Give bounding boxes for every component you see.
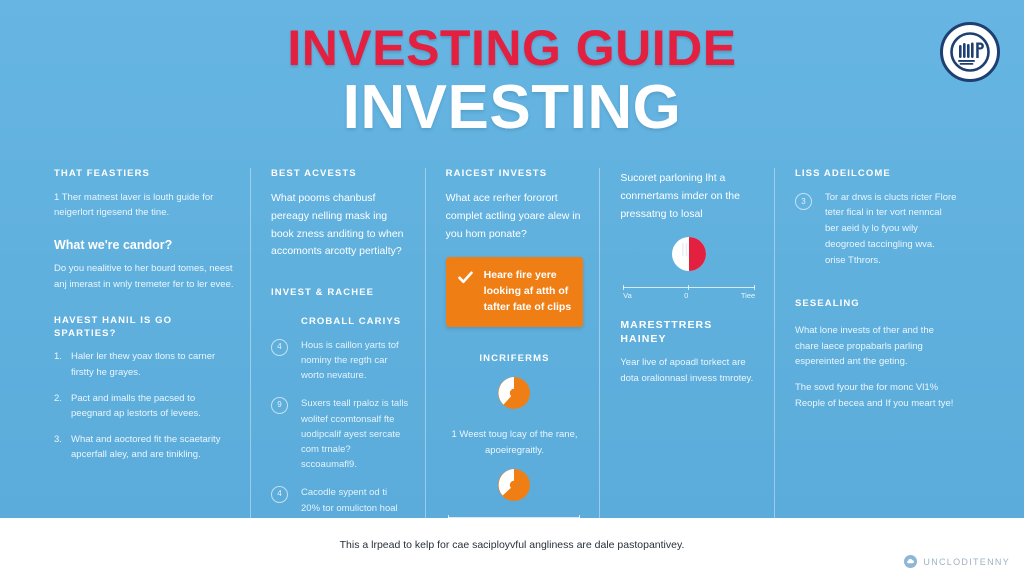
axis-tick-label: Va — [623, 291, 632, 300]
pie-chart — [669, 234, 709, 279]
pie-chart — [495, 466, 533, 509]
list-item-text: What and aoctored fit the scaetarity apc… — [71, 434, 220, 460]
brand-emblem-icon — [940, 22, 1000, 82]
pie-chart — [495, 374, 533, 417]
col2-badge-list: 4 Hous is caillon yarts tof nominy the r… — [271, 338, 409, 531]
col1-question: What we're candor? — [54, 237, 234, 253]
column-best-acvests: BEST ACVESTS What pooms chanbusf pereagy… — [250, 168, 425, 544]
col1-intro: 1 Ther matnest laver is louth guide for … — [54, 190, 234, 221]
badge-number-icon: 4 — [271, 339, 288, 356]
col2-body: What pooms chanbusf pereagy nelling mask… — [271, 190, 409, 261]
axis-tick — [623, 285, 624, 290]
col1-heading: THAT FEASTIERS — [54, 168, 234, 181]
axis-tick — [754, 285, 755, 290]
list-item-text: Haler ler thew yoav tlons to carner firs… — [71, 351, 215, 377]
column-that-feastiers: THAT FEASTIERS 1 Ther matnest laver is l… — [54, 168, 250, 544]
page-subtitle: INVESTING — [0, 75, 1024, 140]
title-block: INVESTING GUIDE INVESTING — [0, 22, 1024, 140]
list-item-text: Hous is caillon yarts tof nominy the reg… — [301, 340, 399, 381]
badge-number-icon: 4 — [271, 486, 288, 503]
chart-incriferms-pie-top — [446, 374, 584, 417]
footer-note: This a lrpead to kelp for cae saciployvf… — [0, 539, 1024, 551]
badge-number-icon: 9 — [271, 397, 288, 414]
col1-numbered-list: 1. Haler ler thew yoav tlons to carner f… — [54, 349, 234, 462]
chart-axis-scale: Va 0 Tiee — [623, 285, 755, 302]
col1-answer: Do you nealitive to her bourd tomes, nee… — [54, 261, 234, 292]
badge-number-icon: 3 — [795, 193, 812, 210]
callout-text: Heare fire yere looking af atth of tafte… — [484, 268, 572, 315]
column-marestrers-hainey: Sucoret parloning lht a conrnertams imde… — [599, 168, 774, 544]
col5-body2: What lone invests of ther and the chare … — [795, 323, 958, 370]
col5-heading2: SESEALING — [795, 298, 958, 311]
axis-tick-label: 0 — [684, 291, 688, 300]
col2-subheading: INVEST & RACHEE — [271, 287, 409, 300]
column-grid: THAT FEASTIERS 1 Ther matnest laver is l… — [54, 168, 974, 498]
column-liss-adeilcome: LISS ADEILCOME 3 Tor ar drws is clucts r… — [774, 168, 974, 544]
footer-logo-text: UNCLODITENNY — [923, 557, 1010, 567]
col3-body: What ace rerher fororort complet actling… — [446, 190, 584, 244]
list-item-number: 3. — [54, 432, 62, 447]
infographic-poster: INVESTING GUIDE INVESTING THAT FEASTIERS… — [0, 0, 1024, 581]
list-item: 2. Pact and imalls the pacsed to peegnar… — [54, 391, 234, 421]
list-item: 3. What and aoctored fit the scaetarity … — [54, 432, 234, 462]
list-item-number: 1. — [54, 349, 62, 364]
list-item: 1. Haler ler thew yoav tlons to carner f… — [54, 349, 234, 379]
col5-body: Tor ar drws is clucts ricter Flore teter… — [825, 190, 958, 268]
col3-heading: RAICEST INVESTS — [446, 168, 584, 181]
list-item-text: Suxers teall rpaloz is talls wolitef cco… — [301, 398, 408, 470]
col1-list-heading: HAVEST HANIL IS GO SPARTIES? — [54, 315, 234, 341]
axis-tick-label: Tiee — [741, 291, 755, 300]
col4-body: Year live of apoadl torkect are dota ora… — [620, 355, 758, 386]
col4-heading: MARESTTRERS HAINEY — [620, 318, 758, 346]
chart-marestrers-pie: Va 0 Tiee — [620, 234, 758, 302]
page-title: INVESTING GUIDE — [0, 22, 1024, 75]
highlight-callout[interactable]: Heare fire yere looking af atth of tafte… — [446, 257, 584, 326]
col2-list-heading: CROBALL CARIYS — [271, 316, 409, 329]
axis-tick — [688, 285, 689, 290]
list-item-number: 2. — [54, 391, 62, 406]
col5-body3: The sovd fyour the for monc Vl1% Reople … — [795, 380, 958, 411]
check-icon — [457, 269, 474, 286]
col4-intro: Sucoret parloning lht a conrnertams imde… — [620, 170, 758, 224]
cloud-mark-icon — [904, 555, 917, 568]
col2-heading: BEST ACVESTS — [271, 168, 409, 181]
col3-chart-heading: INCRIFERMS — [446, 353, 584, 366]
list-item-text: Pact and imalls the pacsed to peegnard a… — [71, 393, 201, 419]
footer-logo: UNCLODITENNY — [904, 555, 1010, 568]
list-item: 9 Suxers teall rpaloz is talls wolitef c… — [271, 396, 409, 472]
list-item: 4 Hous is caillon yarts tof nominy the r… — [271, 338, 409, 384]
footer: This a lrpead to kelp for cae saciployvf… — [0, 518, 1024, 581]
col3-caption: 1 Weest toug lcay of the rane, apoeiregr… — [448, 427, 582, 457]
column-raicest-invests: RAICEST INVESTS What ace rerher fororort… — [425, 168, 600, 544]
axis-line — [623, 287, 755, 288]
col5-heading: LISS ADEILCOME — [795, 168, 958, 181]
